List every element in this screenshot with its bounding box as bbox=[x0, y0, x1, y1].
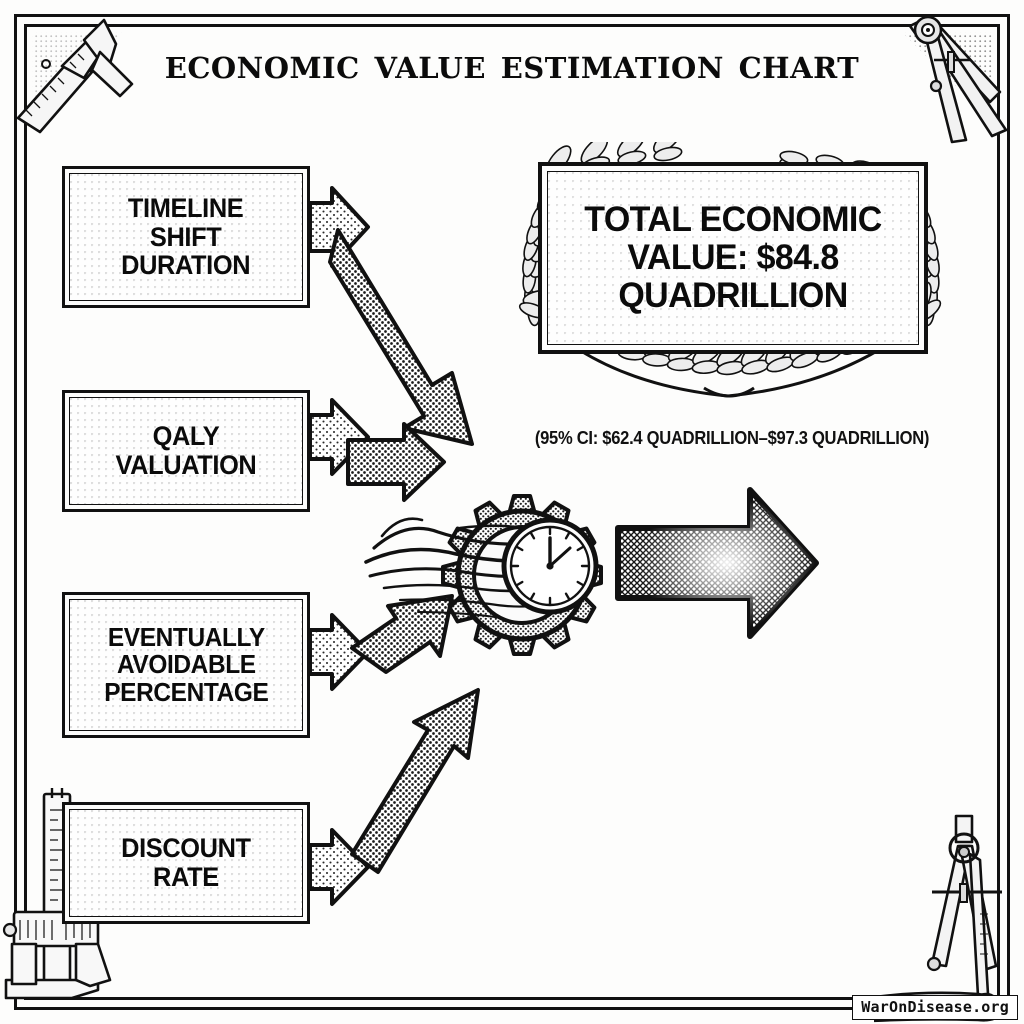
gear-clock-icon bbox=[360, 470, 640, 680]
drafting-compass-scroll-icon bbox=[874, 814, 1024, 1024]
input-box-inner: QALYVALUATION bbox=[69, 397, 303, 505]
connector-arrow-1 bbox=[310, 188, 472, 444]
connector-arrow-4 bbox=[310, 690, 478, 904]
result-panel: TOTAL ECONOMIC VALUE: $84.8 QUADRILLION bbox=[492, 142, 970, 414]
input-box-eventually-avoidable-percentage[interactable]: EVENTUALLYAVOIDABLEPERCENTAGE bbox=[62, 592, 310, 738]
input-box-inner: EVENTUALLYAVOIDABLEPERCENTAGE bbox=[69, 599, 303, 731]
confidence-interval-label: (95% CI: $62.4 QUADRILLION–$97.3 QUADRIL… bbox=[511, 428, 953, 449]
result-headline: TOTAL ECONOMIC VALUE: $84.8 QUADRILLION bbox=[554, 201, 913, 314]
chart-canvas: Economic Value Estimation Chart TIMELINE… bbox=[0, 0, 1024, 1024]
page-title: Economic Value Estimation Chart bbox=[0, 40, 1024, 88]
watermark: WarOnDisease.org bbox=[852, 995, 1018, 1020]
input-box-label: DISCOUNTRATE bbox=[121, 834, 251, 891]
result-value-box-inner: TOTAL ECONOMIC VALUE: $84.8 QUADRILLION bbox=[547, 171, 919, 345]
input-box-label: QALYVALUATION bbox=[116, 422, 257, 479]
input-box-label: TIMELINESHIFTDURATION bbox=[121, 194, 250, 280]
input-box-inner: TIMELINESHIFTDURATION bbox=[69, 173, 303, 301]
input-box-discount-rate[interactable]: DISCOUNTRATE bbox=[62, 802, 310, 924]
input-box-label: EVENTUALLYAVOIDABLEPERCENTAGE bbox=[104, 624, 268, 707]
input-box-timeline-shift-duration[interactable]: TIMELINESHIFTDURATION bbox=[62, 166, 310, 308]
input-box-inner: DISCOUNTRATE bbox=[69, 809, 303, 917]
result-value-box: TOTAL ECONOMIC VALUE: $84.8 QUADRILLION bbox=[538, 162, 928, 354]
output-arrow-icon bbox=[604, 478, 824, 648]
input-box-qaly-valuation[interactable]: QALYVALUATION bbox=[62, 390, 310, 512]
